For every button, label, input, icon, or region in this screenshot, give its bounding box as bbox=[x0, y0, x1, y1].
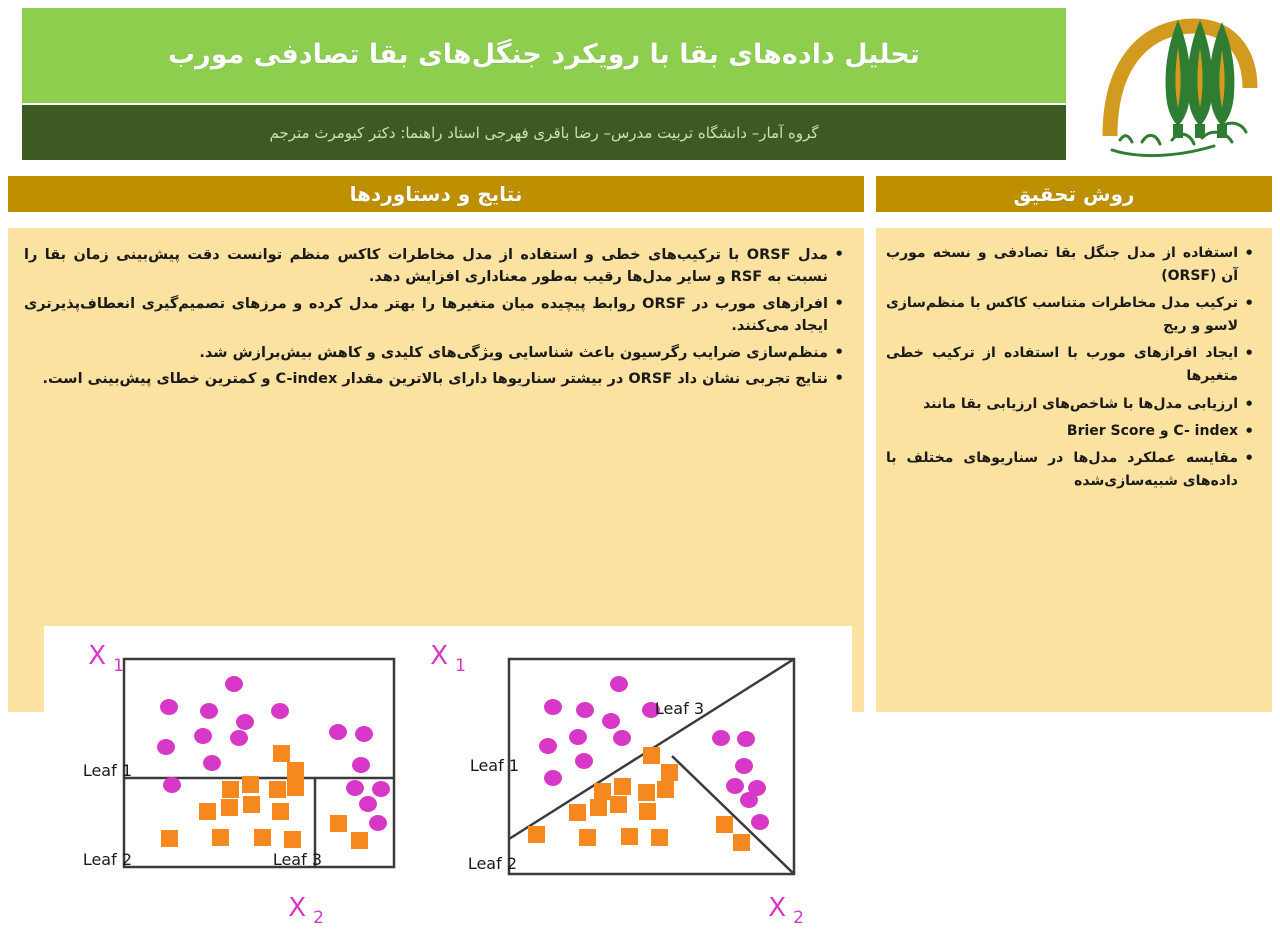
list-item: C- index و Brier Score bbox=[886, 420, 1258, 443]
tree-diagram-oblique: X 1 X 2 bbox=[430, 641, 804, 926]
list-item: ترکیب مدل مخاطرات متناسب کاکس با منظم‌سا… bbox=[886, 292, 1258, 338]
leaf-label: Leaf 1 bbox=[470, 756, 519, 775]
section-header-results-label: نتایج و دستاوردها bbox=[350, 182, 523, 206]
leaf-label: Leaf 2 bbox=[468, 854, 517, 873]
tree-diagram-axis-aligned: X 1 X 2 bbox=[83, 641, 394, 926]
results-panel: مدل ORSF با ترکیب‌های خطی و استفاده از م… bbox=[8, 228, 864, 712]
leaf-label: Leaf 3 bbox=[273, 850, 322, 869]
university-logo: دانشگاه تربیت مدرس bbox=[1090, 8, 1268, 163]
svg-text:1: 1 bbox=[113, 656, 124, 676]
svg-text:2: 2 bbox=[793, 908, 804, 926]
list-item: افرازهای مورب در ORSF روابط پیچیده میان … bbox=[24, 293, 848, 338]
poster-authors: گروه آمار– دانشگاه تربیت مدرس– رضا باقری… bbox=[269, 124, 818, 142]
list-item: مدل ORSF با ترکیب‌های خطی و استفاده از م… bbox=[24, 244, 848, 289]
section-header-method-label: روش تحقیق bbox=[1014, 182, 1135, 206]
leaf-label: Leaf 3 bbox=[655, 699, 704, 718]
list-item: منظم‌سازی ضرایب رگرسیون باعث شناسایی ویژ… bbox=[24, 342, 848, 364]
list-item: استفاده از مدل جنگل بقا تصادفی و نسخه مو… bbox=[886, 242, 1258, 288]
page-title: تحلیل داده‌های بقا با رویکرد جنگل‌های بق… bbox=[168, 39, 920, 71]
poster-title-bar: تحلیل داده‌های بقا با رویکرد جنگل‌های بق… bbox=[22, 8, 1066, 103]
list-item: نتایج تجربی نشان داد ORSF در بیشتر سناری… bbox=[24, 368, 848, 390]
svg-text:1: 1 bbox=[455, 656, 466, 676]
method-panel: استفاده از مدل جنگل بقا تصادفی و نسخه مو… bbox=[876, 228, 1272, 712]
svg-text:X: X bbox=[430, 641, 448, 671]
leaf-label: Leaf 2 bbox=[83, 850, 132, 869]
section-header-results: نتایج و دستاوردها bbox=[8, 176, 864, 212]
svg-text:X: X bbox=[288, 893, 306, 923]
svg-text:X: X bbox=[768, 893, 786, 923]
list-item: مقایسه عملکرد مدل‌ها در سناریوهای مختلف … bbox=[886, 447, 1258, 493]
list-item: ارزیابی مدل‌ها با شاخص‌های ارزیابی بقا م… bbox=[886, 393, 1258, 416]
leaf-label: Leaf 1 bbox=[83, 761, 132, 780]
section-header-method: روش تحقیق bbox=[876, 176, 1272, 212]
poster-subtitle-bar: گروه آمار– دانشگاه تربیت مدرس– رضا باقری… bbox=[22, 105, 1066, 160]
svg-text:2: 2 bbox=[313, 908, 324, 926]
figure-tree-diagram: X 1 X 2 bbox=[44, 626, 852, 926]
method-bullet-list: استفاده از مدل جنگل بقا تصادفی و نسخه مو… bbox=[876, 228, 1272, 493]
results-bullet-list: مدل ORSF با ترکیب‌های خطی و استفاده از م… bbox=[8, 228, 864, 391]
svg-text:X: X bbox=[88, 641, 106, 671]
list-item: ایجاد افرازهای مورب با استفاده از ترکیب … bbox=[886, 342, 1258, 388]
